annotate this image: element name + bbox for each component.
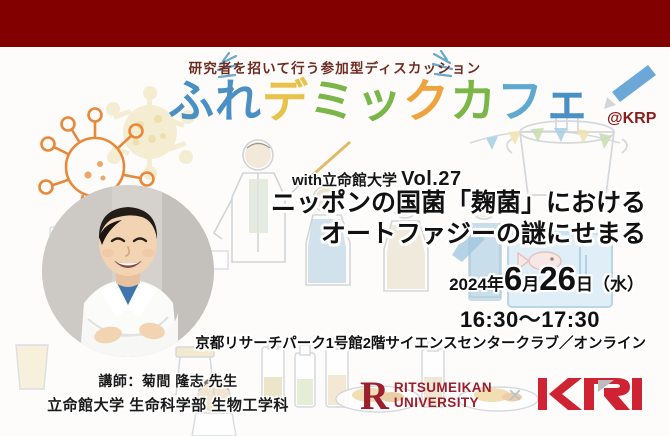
logo-char-3: デ — [262, 78, 309, 124]
speaker-name: 講師：菊間 隆志 先生 — [18, 371, 318, 391]
date-year: 2024年 — [449, 275, 504, 294]
top-banner — [0, 0, 670, 47]
ritsumeikan-wordmark: RITSUMEIKAN UNIVERSITY — [394, 381, 492, 410]
headline-line-1: ニッポンの国菌「麹菌」における — [271, 188, 646, 219]
vol-number: Vol.27 — [401, 168, 461, 190]
headline-line-2: オートファジーの謎にせまる — [271, 219, 646, 250]
date-month-unit: 月 — [522, 275, 539, 294]
krp-logo — [538, 374, 644, 419]
speaker-info: 講師：菊間 隆志 先生 立命館大学 生命科学部 生物工学科 — [18, 371, 318, 415]
event-venue: 京都リサーチパーク1号館2階サイエンスセンタークラブ／オンライン — [195, 332, 646, 353]
ritsumeikan-r-mark: R — [360, 380, 389, 412]
logo-char-2: れ — [215, 78, 262, 124]
krp-suffix-label: @KRP — [607, 110, 656, 128]
event-logo-title: ふれデミックカフェ — [168, 78, 591, 124]
sponsor-logos: R RITSUMEIKAN UNIVERSITY × — [360, 372, 644, 419]
logo-char-5: ッ — [356, 78, 403, 124]
logo-char-8: フ — [497, 78, 544, 124]
logo-char-9: ェ — [544, 78, 591, 124]
poster-canvas: 研究者を招いて行う参加型ディスカッション ふれデミックカフェ @KRP — [0, 0, 670, 436]
ritsumeikan-line-2: UNIVERSITY — [394, 396, 492, 411]
tagline: 研究者を招いて行う参加型ディスカッション — [0, 57, 670, 77]
date-day-unit: 日 — [576, 275, 593, 294]
date-weekday: （水） — [593, 275, 644, 294]
date-month: 6 — [504, 260, 522, 297]
logo-char-6: ク — [403, 78, 450, 124]
logo-char-7: カ — [450, 78, 497, 124]
logo-char-4: ミ — [309, 78, 356, 124]
ritsumeikan-line-1: RITSUMEIKAN — [394, 381, 492, 396]
event-date: 2024年6月26日（水） — [449, 262, 644, 295]
speaker-affiliation: 立命館大学 生命科学部 生物工学科 — [18, 394, 318, 415]
logo-char-1: ふ — [168, 78, 215, 124]
date-day: 26 — [539, 260, 576, 297]
speaker-portrait-photo — [42, 185, 214, 357]
event-time: 16:30～17:30 — [460, 302, 600, 334]
ritsumeikan-university-logo: R RITSUMEIKAN UNIVERSITY — [360, 380, 492, 412]
logo-separator-x: × — [508, 382, 522, 410]
vol-prefix: with立命館大学 — [292, 172, 397, 189]
headline: ニッポンの国菌「麹菌」における オートファジーの謎にせまる — [271, 188, 646, 249]
